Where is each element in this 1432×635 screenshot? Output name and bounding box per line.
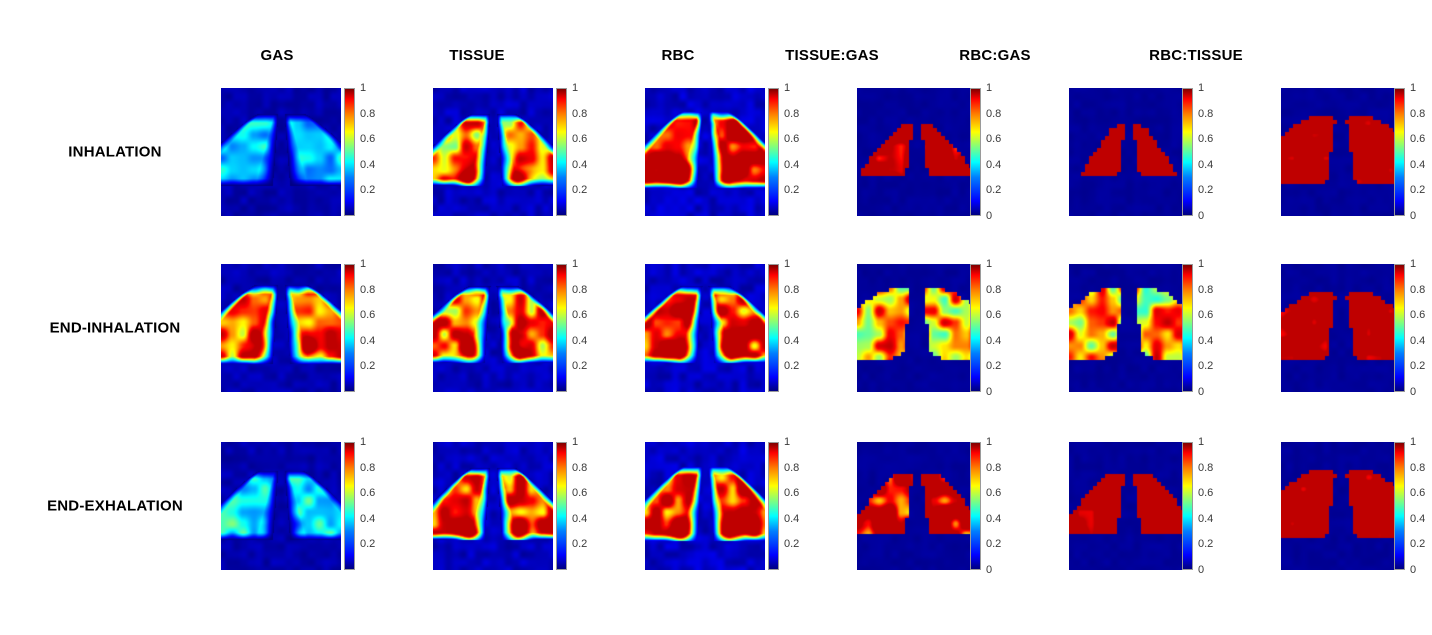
heatmap-panel-end_exhalation-tissue_gas: [857, 442, 977, 570]
colorbar-tick: 0.4: [572, 159, 587, 171]
column-header-gas: GAS: [260, 47, 293, 64]
heatmap-panel-end_exhalation-rbc_tissue: [1281, 442, 1401, 570]
colorbar-tick: 0: [1410, 564, 1416, 576]
colorbar-tick: 1: [1410, 436, 1416, 448]
colorbar-gradient: [1394, 88, 1405, 216]
heatmap-canvas-end_exhalation-tissue_gas: [857, 442, 977, 570]
heatmap-canvas-inhalation-tissue_gas: [857, 88, 977, 216]
colorbar-tick: 0.8: [360, 108, 375, 120]
colorbar-end_exhalation-tissue: 10.80.60.40.2: [556, 442, 567, 570]
colorbar-tick: 0.4: [1198, 513, 1213, 525]
colorbar-tick: 0.8: [986, 108, 1001, 120]
column-header-tissue: TISSUE: [449, 47, 504, 64]
colorbar-tick: 0.4: [1410, 159, 1425, 171]
column-header-rbc_gas: RBC:GAS: [959, 47, 1030, 64]
colorbar-end_exhalation-rbc_tissue: 10.80.60.40.20: [1394, 442, 1405, 570]
heatmap-panel-end_inhalation-rbc_gas: [1069, 264, 1189, 392]
colorbar-tick: 1: [1198, 436, 1204, 448]
colorbar-tick: 0.8: [784, 462, 799, 474]
colorbar-tick: 0.6: [572, 133, 587, 145]
heatmap-panel-end_inhalation-gas: [221, 264, 341, 392]
colorbar-tick: 0.4: [784, 159, 799, 171]
colorbar-gradient: [344, 442, 355, 570]
colorbar-tick: 0.2: [986, 184, 1001, 196]
colorbar-end_inhalation-rbc: 10.80.60.40.2: [768, 264, 779, 392]
heatmap-panel-end_exhalation-rbc: [645, 442, 765, 570]
colorbar-tick: 0.6: [1410, 309, 1425, 321]
colorbar-tick: 0.8: [360, 284, 375, 296]
colorbar-gradient: [970, 88, 981, 216]
colorbar-gradient: [344, 264, 355, 392]
heatmap-canvas-end_inhalation-rbc_tissue: [1281, 264, 1401, 392]
colorbar-gradient: [768, 88, 779, 216]
colorbar-tick-list: 10.80.60.40.2: [355, 264, 401, 392]
colorbar-end_exhalation-tissue_gas: 10.80.60.40.20: [970, 442, 981, 570]
colorbar-tick: 1: [986, 258, 992, 270]
colorbar-tick: 1: [1410, 258, 1416, 270]
colorbar-tick-list: 10.80.60.40.2: [779, 88, 825, 216]
figure-panel-grid: GASTISSUERBCTISSUE:GASRBC:GASRBC:TISSUEI…: [0, 0, 1432, 635]
colorbar-tick-list: 10.80.60.40.20: [1193, 88, 1239, 216]
colorbar-tick: 1: [572, 258, 578, 270]
colorbar-tick: 0.4: [986, 513, 1001, 525]
colorbar-tick: 0: [1198, 210, 1204, 222]
colorbar-tick: 0.2: [784, 360, 799, 372]
colorbar-tick: 0.6: [784, 309, 799, 321]
colorbar-tick-list: 10.80.60.40.2: [779, 442, 825, 570]
colorbar-tick-list: 10.80.60.40.20: [1193, 442, 1239, 570]
colorbar-tick: 0.2: [360, 184, 375, 196]
heatmap-panel-end_inhalation-tissue_gas: [857, 264, 977, 392]
colorbar-tick: 0.2: [572, 360, 587, 372]
colorbar-tick: 0.2: [1410, 184, 1425, 196]
colorbar-tick: 0: [1198, 564, 1204, 576]
heatmap-canvas-inhalation-rbc_gas: [1069, 88, 1189, 216]
colorbar-tick: 0.2: [1198, 184, 1213, 196]
heatmap-panel-end_exhalation-rbc_gas: [1069, 442, 1189, 570]
colorbar-end_exhalation-gas: 10.80.60.40.2: [344, 442, 355, 570]
colorbar-tick: 0.2: [1410, 360, 1425, 372]
colorbar-tick-list: 10.80.60.40.20: [1193, 264, 1239, 392]
colorbar-tick-list: 10.80.60.40.2: [567, 442, 613, 570]
colorbar-tick: 1: [986, 436, 992, 448]
column-header-rbc: RBC: [661, 47, 694, 64]
heatmap-panel-inhalation-rbc_tissue: [1281, 88, 1401, 216]
colorbar-tick: 0: [986, 564, 992, 576]
colorbar-tick: 0.8: [572, 462, 587, 474]
heatmap-canvas-inhalation-gas: [221, 88, 341, 216]
colorbar-inhalation-gas: 10.80.60.40.2: [344, 88, 355, 216]
colorbar-end_inhalation-gas: 10.80.60.40.2: [344, 264, 355, 392]
colorbar-tick: 0.2: [572, 538, 587, 550]
heatmap-canvas-end_exhalation-rbc_gas: [1069, 442, 1189, 570]
colorbar-tick: 0.6: [986, 133, 1001, 145]
colorbar-tick: 0.6: [360, 487, 375, 499]
colorbar-tick: 0.6: [1410, 133, 1425, 145]
colorbar-tick: 0.6: [572, 487, 587, 499]
colorbar-gradient: [768, 264, 779, 392]
colorbar-inhalation-rbc_tissue: 10.80.60.40.20: [1394, 88, 1405, 216]
colorbar-tick: 0.6: [986, 487, 1001, 499]
colorbar-tick: 0.6: [572, 309, 587, 321]
colorbar-tick: 0.4: [1410, 335, 1425, 347]
colorbar-tick: 0.6: [1198, 309, 1213, 321]
heatmap-canvas-end_exhalation-tissue: [433, 442, 553, 570]
column-header-tissue_gas: TISSUE:GAS: [785, 47, 879, 64]
heatmap-canvas-inhalation-tissue: [433, 88, 553, 216]
row-label-end_exhalation: END-EXHALATION: [47, 498, 183, 515]
colorbar-tick: 0.6: [1410, 487, 1425, 499]
colorbar-tick: 0.2: [360, 538, 375, 550]
colorbar-gradient: [1182, 88, 1193, 216]
colorbar-tick: 1: [360, 82, 366, 94]
colorbar-gradient: [344, 88, 355, 216]
colorbar-tick: 0.8: [1410, 108, 1425, 120]
colorbar-tick: 0.2: [360, 360, 375, 372]
heatmap-panel-inhalation-tissue_gas: [857, 88, 977, 216]
heatmap-canvas-end_inhalation-tissue_gas: [857, 264, 977, 392]
colorbar-end_inhalation-rbc_tissue: 10.80.60.40.20: [1394, 264, 1405, 392]
heatmap-panel-inhalation-gas: [221, 88, 341, 216]
colorbar-tick: 0.4: [360, 335, 375, 347]
colorbar-tick: 0.2: [784, 538, 799, 550]
colorbar-tick-list: 10.80.60.40.2: [779, 264, 825, 392]
colorbar-tick: 1: [986, 82, 992, 94]
colorbar-tick: 0.4: [986, 335, 1001, 347]
colorbar-end_inhalation-tissue_gas: 10.80.60.40.20: [970, 264, 981, 392]
heatmap-canvas-end_exhalation-rbc_tissue: [1281, 442, 1401, 570]
colorbar-tick: 0.4: [360, 513, 375, 525]
colorbar-tick: 0.8: [986, 462, 1001, 474]
colorbar-tick: 0.2: [986, 360, 1001, 372]
row-label-inhalation: INHALATION: [68, 144, 161, 161]
colorbar-end_exhalation-rbc_gas: 10.80.60.40.20: [1182, 442, 1193, 570]
heatmap-canvas-inhalation-rbc: [645, 88, 765, 216]
colorbar-gradient: [1182, 442, 1193, 570]
colorbar-tick: 0.4: [360, 159, 375, 171]
heatmap-canvas-end_exhalation-gas: [221, 442, 341, 570]
colorbar-tick: 0.8: [572, 284, 587, 296]
colorbar-tick: 0.4: [784, 335, 799, 347]
colorbar-gradient: [556, 442, 567, 570]
colorbar-tick-list: 10.80.60.40.20: [1405, 88, 1432, 216]
colorbar-tick: 0: [986, 210, 992, 222]
heatmap-canvas-end_exhalation-rbc: [645, 442, 765, 570]
colorbar-tick: 1: [1198, 258, 1204, 270]
colorbar-tick: 0: [1198, 386, 1204, 398]
colorbar-tick: 0.8: [1410, 462, 1425, 474]
heatmap-panel-inhalation-rbc_gas: [1069, 88, 1189, 216]
colorbar-tick: 0.8: [986, 284, 1001, 296]
colorbar-tick: 0.8: [1198, 108, 1213, 120]
colorbar-end_inhalation-rbc_gas: 10.80.60.40.20: [1182, 264, 1193, 392]
colorbar-tick-list: 10.80.60.40.20: [1405, 264, 1432, 392]
colorbar-tick-list: 10.80.60.40.20: [1405, 442, 1432, 570]
colorbar-gradient: [556, 264, 567, 392]
colorbar-tick: 1: [360, 436, 366, 448]
heatmap-canvas-end_inhalation-gas: [221, 264, 341, 392]
heatmap-canvas-inhalation-rbc_tissue: [1281, 88, 1401, 216]
colorbar-tick: 0.6: [784, 487, 799, 499]
colorbar-tick: 0.4: [1410, 513, 1425, 525]
colorbar-end_inhalation-tissue: 10.80.60.40.2: [556, 264, 567, 392]
colorbar-tick: 0.2: [1198, 360, 1213, 372]
colorbar-gradient: [970, 264, 981, 392]
colorbar-tick-list: 10.80.60.40.2: [567, 264, 613, 392]
colorbar-inhalation-rbc: 10.80.60.40.2: [768, 88, 779, 216]
colorbar-tick: 0.2: [1410, 538, 1425, 550]
colorbar-tick: 0.8: [1198, 462, 1213, 474]
colorbar-tick: 1: [572, 436, 578, 448]
colorbar-tick-list: 10.80.60.40.20: [981, 442, 1027, 570]
colorbar-gradient: [1394, 264, 1405, 392]
colorbar-tick: 0: [986, 386, 992, 398]
colorbar-tick: 0.4: [572, 335, 587, 347]
colorbar-tick: 0.8: [1198, 284, 1213, 296]
colorbar-gradient: [768, 442, 779, 570]
row-label-end_inhalation: END-INHALATION: [50, 320, 181, 337]
colorbar-inhalation-tissue: 10.80.60.40.2: [556, 88, 567, 216]
heatmap-panel-inhalation-tissue: [433, 88, 553, 216]
heatmap-panel-end_inhalation-rbc_tissue: [1281, 264, 1401, 392]
colorbar-tick: 0.4: [784, 513, 799, 525]
colorbar-tick: 0.2: [986, 538, 1001, 550]
heatmap-canvas-end_inhalation-tissue: [433, 264, 553, 392]
colorbar-tick: 1: [784, 82, 790, 94]
colorbar-tick: 0: [1410, 210, 1416, 222]
column-header-rbc_tissue: RBC:TISSUE: [1149, 47, 1243, 64]
heatmap-panel-end_inhalation-tissue: [433, 264, 553, 392]
colorbar-tick: 0.6: [360, 309, 375, 321]
heatmap-canvas-end_inhalation-rbc: [645, 264, 765, 392]
colorbar-tick: 0.6: [784, 133, 799, 145]
colorbar-tick: 1: [1410, 82, 1416, 94]
colorbar-tick: 0.2: [572, 184, 587, 196]
colorbar-tick-list: 10.80.60.40.2: [355, 88, 401, 216]
colorbar-tick: 1: [784, 436, 790, 448]
colorbar-tick: 0.4: [1198, 335, 1213, 347]
colorbar-gradient: [556, 88, 567, 216]
colorbar-tick: 0.4: [986, 159, 1001, 171]
colorbar-tick: 1: [572, 82, 578, 94]
colorbar-gradient: [1182, 264, 1193, 392]
heatmap-canvas-end_inhalation-rbc_gas: [1069, 264, 1189, 392]
colorbar-tick: 0.6: [1198, 487, 1213, 499]
colorbar-inhalation-rbc_gas: 10.80.60.40.20: [1182, 88, 1193, 216]
colorbar-tick: 1: [784, 258, 790, 270]
colorbar-tick: 0.8: [784, 284, 799, 296]
colorbar-tick: 0.6: [1198, 133, 1213, 145]
heatmap-panel-end_exhalation-tissue: [433, 442, 553, 570]
colorbar-tick: 0.4: [1198, 159, 1213, 171]
colorbar-tick-list: 10.80.60.40.20: [981, 264, 1027, 392]
colorbar-tick: 0.8: [572, 108, 587, 120]
colorbar-end_exhalation-rbc: 10.80.60.40.2: [768, 442, 779, 570]
colorbar-tick: 0.6: [986, 309, 1001, 321]
colorbar-tick: 0.2: [784, 184, 799, 196]
colorbar-tick-list: 10.80.60.40.20: [981, 88, 1027, 216]
colorbar-tick: 1: [1198, 82, 1204, 94]
colorbar-tick: 0.8: [1410, 284, 1425, 296]
colorbar-tick: 0.6: [360, 133, 375, 145]
heatmap-panel-inhalation-rbc: [645, 88, 765, 216]
colorbar-tick: 0.4: [572, 513, 587, 525]
colorbar-tick: 0.8: [784, 108, 799, 120]
colorbar-tick: 0.8: [360, 462, 375, 474]
colorbar-tick: 0: [1410, 386, 1416, 398]
colorbar-tick-list: 10.80.60.40.2: [355, 442, 401, 570]
colorbar-tick: 0.2: [1198, 538, 1213, 550]
heatmap-panel-end_exhalation-gas: [221, 442, 341, 570]
colorbar-inhalation-tissue_gas: 10.80.60.40.20: [970, 88, 981, 216]
colorbar-gradient: [970, 442, 981, 570]
colorbar-tick: 1: [360, 258, 366, 270]
colorbar-tick-list: 10.80.60.40.2: [567, 88, 613, 216]
heatmap-panel-end_inhalation-rbc: [645, 264, 765, 392]
colorbar-gradient: [1394, 442, 1405, 570]
